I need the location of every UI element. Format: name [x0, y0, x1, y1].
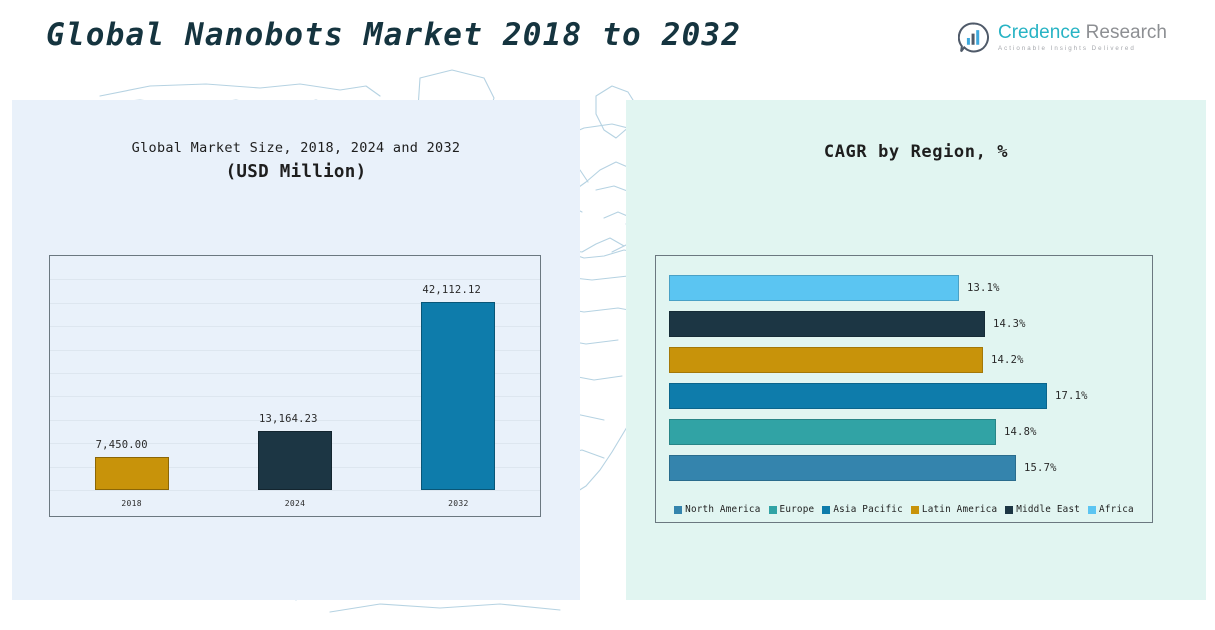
bar[interactable]: 7,450.00 [95, 457, 169, 490]
bar[interactable]: 42,112.12 [421, 302, 495, 490]
legend-swatch-icon [822, 506, 830, 514]
legend-swatch-icon [674, 506, 682, 514]
legend-swatch-icon [769, 506, 777, 514]
legend-swatch-icon [1088, 506, 1096, 514]
header: Global Nanobots Market 2018 to 2032 Cred… [0, 0, 1215, 100]
legend-item[interactable]: North America [674, 504, 760, 515]
legend-swatch-icon [911, 506, 919, 514]
bar[interactable] [669, 311, 985, 337]
left-chart-subtitle-units: (USD Million) [12, 162, 580, 182]
right-chart-panel: CAGR by Region, % 13.1%14.3%14.2%17.1%14… [626, 100, 1206, 600]
logo-tagline: Actionable Insights Delivered [998, 45, 1167, 52]
category-tick-label: 2018 [58, 499, 206, 508]
bar-chart-circle-icon [958, 22, 989, 53]
cagr-by-region-bar-chart: 13.1%14.3%14.2%17.1%14.8%15.7% North Ame… [655, 255, 1153, 523]
bar-value-label: 7,450.00 [96, 439, 148, 451]
logo-text-block: Credence Research Actionable Insights De… [998, 23, 1167, 52]
bar-value-label: 15.7% [1024, 462, 1057, 474]
legend-item[interactable]: Europe [769, 504, 815, 515]
legend-item[interactable]: Middle East [1005, 504, 1080, 515]
legend-label: Latin America [922, 504, 997, 515]
vertical-bars-group: 7,450.00201813,164.23202442,112.122032 [50, 256, 540, 516]
legend-label: North America [685, 504, 760, 515]
bar-row[interactable]: 13.1% [669, 275, 1152, 301]
legend-label: Africa [1099, 504, 1134, 515]
bar[interactable] [669, 455, 1016, 481]
bar-value-label: 13.1% [967, 282, 1000, 294]
bar-column[interactable]: 13,164.232024 [258, 280, 332, 490]
bar-value-label: 14.8% [1004, 426, 1037, 438]
logo-name: Credence Research [998, 23, 1167, 43]
left-chart-title-line1: Global Market Size, 2018, 2024 and 2032 [12, 140, 580, 156]
bar-row[interactable]: 14.2% [669, 347, 1152, 373]
logo-name-secondary: Research [1080, 22, 1167, 43]
bar-row[interactable]: 15.7% [669, 455, 1152, 481]
brand-logo: Credence Research Actionable Insights De… [958, 22, 1167, 53]
legend-label: Asia Pacific [833, 504, 903, 515]
bar-value-label: 13,164.23 [259, 413, 318, 425]
bar[interactable] [669, 347, 983, 373]
legend-label: Europe [780, 504, 815, 515]
right-chart-title: CAGR by Region, % [626, 142, 1206, 162]
bar-value-label: 42,112.12 [422, 284, 481, 296]
bar-column[interactable]: 42,112.122032 [421, 280, 495, 490]
bar-value-label: 17.1% [1055, 390, 1088, 402]
bar-row[interactable]: 14.8% [669, 419, 1152, 445]
market-size-bar-chart: 7,450.00201813,164.23202442,112.122032 [49, 255, 541, 517]
bar-row[interactable]: 14.3% [669, 311, 1152, 337]
legend-item[interactable]: Africa [1088, 504, 1134, 515]
category-tick-label: 2024 [221, 499, 369, 508]
bar-value-label: 14.2% [991, 354, 1024, 366]
horizontal-bars-group: 13.1%14.3%14.2%17.1%14.8%15.7% [656, 256, 1152, 522]
bar[interactable] [669, 383, 1047, 409]
page-title: Global Nanobots Market 2018 to 2032 [46, 17, 741, 53]
chart-legend: North AmericaEuropeAsia PacificLatin Ame… [656, 504, 1152, 515]
bar[interactable]: 13,164.23 [258, 431, 332, 490]
bar[interactable] [669, 275, 959, 301]
left-chart-panel: Global Market Size, 2018, 2024 and 2032 … [12, 100, 580, 600]
bar-column[interactable]: 7,450.002018 [95, 280, 169, 490]
category-tick-label: 2032 [384, 499, 532, 508]
infographic-root: Global Nanobots Market 2018 to 2032 Cred… [0, 0, 1215, 630]
bar[interactable] [669, 419, 996, 445]
bar-value-label: 14.3% [993, 318, 1026, 330]
legend-label: Middle East [1016, 504, 1080, 515]
legend-swatch-icon [1005, 506, 1013, 514]
logo-name-primary: Credence [998, 22, 1080, 43]
legend-item[interactable]: Asia Pacific [822, 504, 903, 515]
bar-row[interactable]: 17.1% [669, 383, 1152, 409]
legend-item[interactable]: Latin America [911, 504, 997, 515]
